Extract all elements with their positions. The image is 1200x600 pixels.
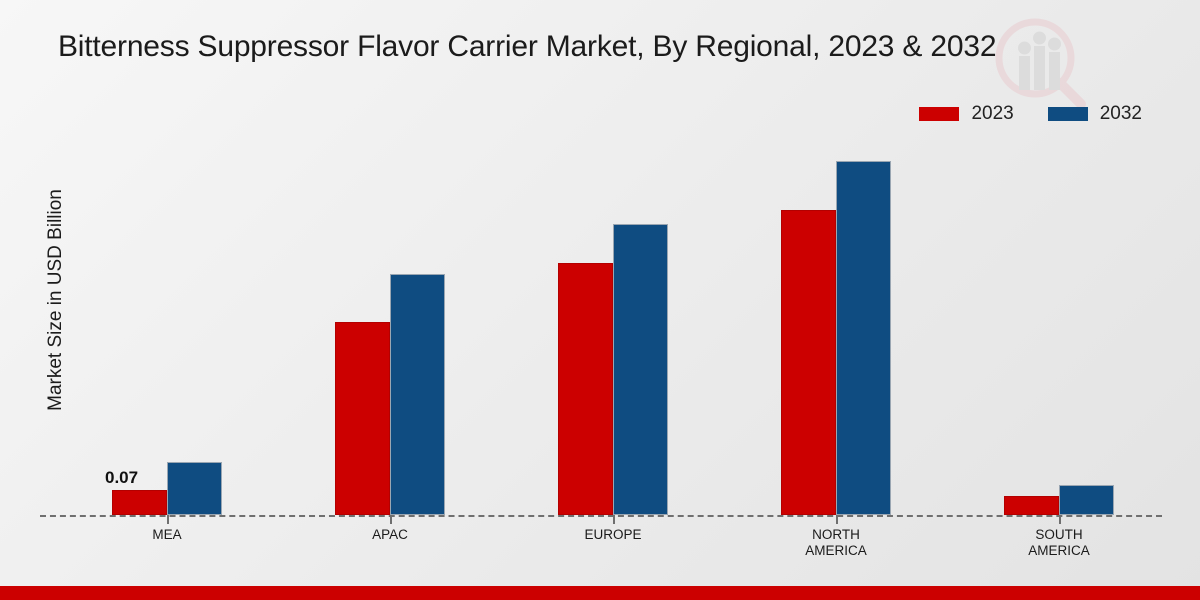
plot-area: MEAAPACEUROPENORTHAMERICASOUTHAMERICA0.0… (0, 0, 1200, 586)
x-axis-label-line: APAC (290, 527, 490, 543)
x-axis-baseline (40, 515, 1162, 517)
bar-2032-south-america[interactable] (1059, 485, 1114, 515)
x-axis-label-line: MEA (67, 527, 267, 543)
chart-container: Bitterness Suppressor Flavor Carrier Mar… (0, 0, 1200, 600)
bar-2023-apac[interactable] (335, 322, 390, 515)
data-label-mea-2023: 0.07 (105, 468, 138, 488)
bar-2032-apac[interactable] (390, 274, 445, 515)
x-axis-tick-europe (613, 515, 615, 524)
x-axis-tick-mea (167, 515, 169, 524)
x-axis-label-line: NORTH (736, 527, 936, 543)
x-axis-label-line: AMERICA (736, 543, 936, 559)
x-axis-tick-north-america (836, 515, 838, 524)
x-axis-label-line: AMERICA (959, 543, 1159, 559)
x-axis-tick-south-america (1059, 515, 1061, 524)
bar-2032-mea[interactable] (167, 462, 222, 515)
x-axis-label-north-america: NORTHAMERICA (736, 527, 936, 559)
footer-stripe (0, 586, 1200, 600)
bar-2023-south-america[interactable] (1004, 496, 1059, 515)
x-axis-label-europe: EUROPE (513, 527, 713, 543)
bar-2023-europe[interactable] (558, 263, 613, 515)
x-axis-label-line: EUROPE (513, 527, 713, 543)
bar-2032-europe[interactable] (613, 224, 668, 515)
bar-2023-north-america[interactable] (781, 210, 836, 515)
x-axis-tick-apac (390, 515, 392, 524)
bar-2032-north-america[interactable] (836, 161, 891, 515)
x-axis-label-mea: MEA (67, 527, 267, 543)
x-axis-label-apac: APAC (290, 527, 490, 543)
x-axis-label-south-america: SOUTHAMERICA (959, 527, 1159, 559)
bar-2023-mea[interactable] (112, 490, 167, 515)
x-axis-label-line: SOUTH (959, 527, 1159, 543)
